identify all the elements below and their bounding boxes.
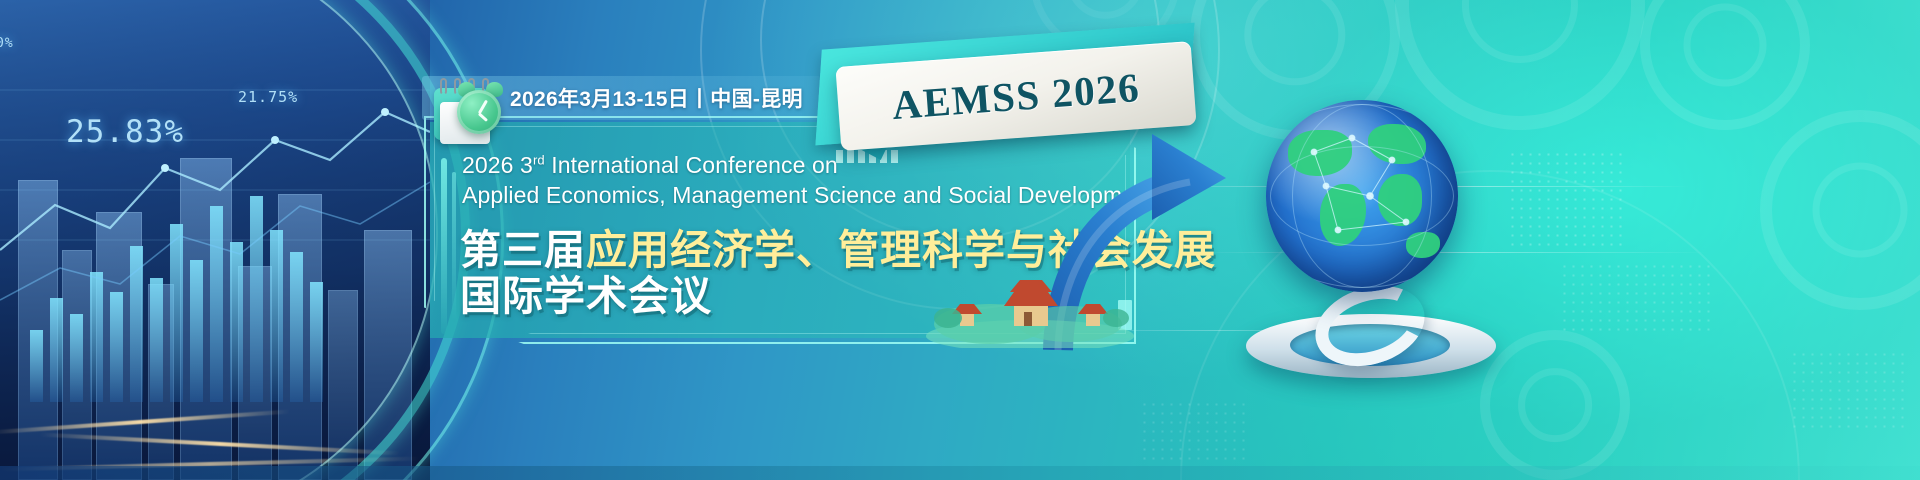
- calendar-clock-icon: [428, 74, 506, 146]
- footer-strip: [0, 466, 1920, 480]
- date-location-text: 2026年3月13-15日丨中国-昆明: [510, 83, 803, 113]
- globe-icon: [1228, 90, 1528, 390]
- rail-decoration: [441, 158, 447, 334]
- globe-pedestal: [1228, 278, 1514, 374]
- pavilion-landmark-icon: [920, 262, 1140, 348]
- title-en-ordinal-suffix: rd: [533, 152, 545, 167]
- dot-grid: [1790, 350, 1910, 430]
- title-english-line1: 2026 3rd International Conference on: [462, 152, 838, 179]
- title-en-rest: International Conference on: [545, 152, 838, 178]
- arc-decoration: [0, 0, 438, 480]
- rail-decoration: [452, 172, 456, 322]
- title-chinese-line2: 国际学术会议: [460, 262, 712, 322]
- title-en-prefix: 2026 3: [462, 152, 533, 178]
- conference-banner: 25.83% 21.75% 0% 2026年3月13-15日丨中国-昆明 202…: [0, 0, 1920, 480]
- globe-network-overlay: [1266, 100, 1458, 292]
